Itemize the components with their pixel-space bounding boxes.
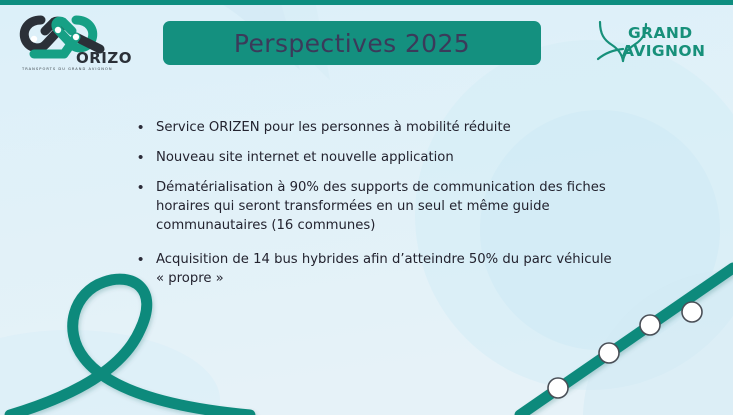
- list-item-line: « propre »: [156, 269, 658, 288]
- top-accent-rule: [0, 0, 733, 5]
- bullet-marker-icon: •: [138, 118, 156, 137]
- list-item: • Acquisition de 14 bus hybrides afin d’…: [138, 250, 658, 288]
- bullet-marker-icon: •: [138, 148, 156, 167]
- list-item-text: Service ORIZEN pour les personnes à mobi…: [156, 118, 658, 137]
- list-item-text: Acquisition de 14 bus hybrides afin d’at…: [156, 250, 658, 288]
- bullet-marker-icon: •: [138, 178, 156, 197]
- orizo-logo: ORIZO TRANSPORTS DU GRAND AVIGNON: [14, 6, 134, 72]
- slide-title-banner: Perspectives 2025: [163, 21, 541, 65]
- list-item-line: communautaires (16 communes): [156, 216, 658, 235]
- grand-avignon-line1: GRAND: [628, 24, 693, 42]
- slide-canvas: ORIZO TRANSPORTS DU GRAND AVIGNON Perspe…: [0, 0, 733, 415]
- transit-route-stops: [548, 302, 702, 398]
- list-item: • Dématérialisation à 90% des supports d…: [138, 178, 658, 235]
- list-item-line: horaires qui seront transformées en un s…: [156, 197, 658, 216]
- list-item: • Nouveau site internet et nouvelle appl…: [138, 148, 658, 167]
- list-item-text: Dématérialisation à 90% des supports de …: [156, 178, 658, 235]
- list-item: • Service ORIZEN pour les personnes à mo…: [138, 118, 658, 137]
- list-item-line: Dématérialisation à 90% des supports de …: [156, 178, 658, 197]
- bullet-list: • Service ORIZEN pour les personnes à mo…: [138, 118, 658, 288]
- list-item-line: Nouveau site internet et nouvelle applic…: [156, 148, 658, 167]
- teal-loop-swirl: [10, 279, 250, 415]
- list-item-text: Nouveau site internet et nouvelle applic…: [156, 148, 658, 167]
- page-title: Perspectives 2025: [234, 29, 470, 58]
- bullet-marker-icon: •: [138, 250, 156, 269]
- grand-avignon-logo: GRAND AVIGNON: [592, 18, 710, 64]
- list-item-line: Acquisition de 14 bus hybrides afin d’at…: [156, 250, 658, 269]
- orizo-tagline: TRANSPORTS DU GRAND AVIGNON: [21, 67, 113, 71]
- grand-avignon-line2: AVIGNON: [622, 42, 705, 60]
- list-item-line: Service ORIZEN pour les personnes à mobi…: [156, 118, 658, 137]
- orizo-wordmark: ORIZO: [76, 49, 132, 67]
- transit-route-line: [520, 268, 733, 415]
